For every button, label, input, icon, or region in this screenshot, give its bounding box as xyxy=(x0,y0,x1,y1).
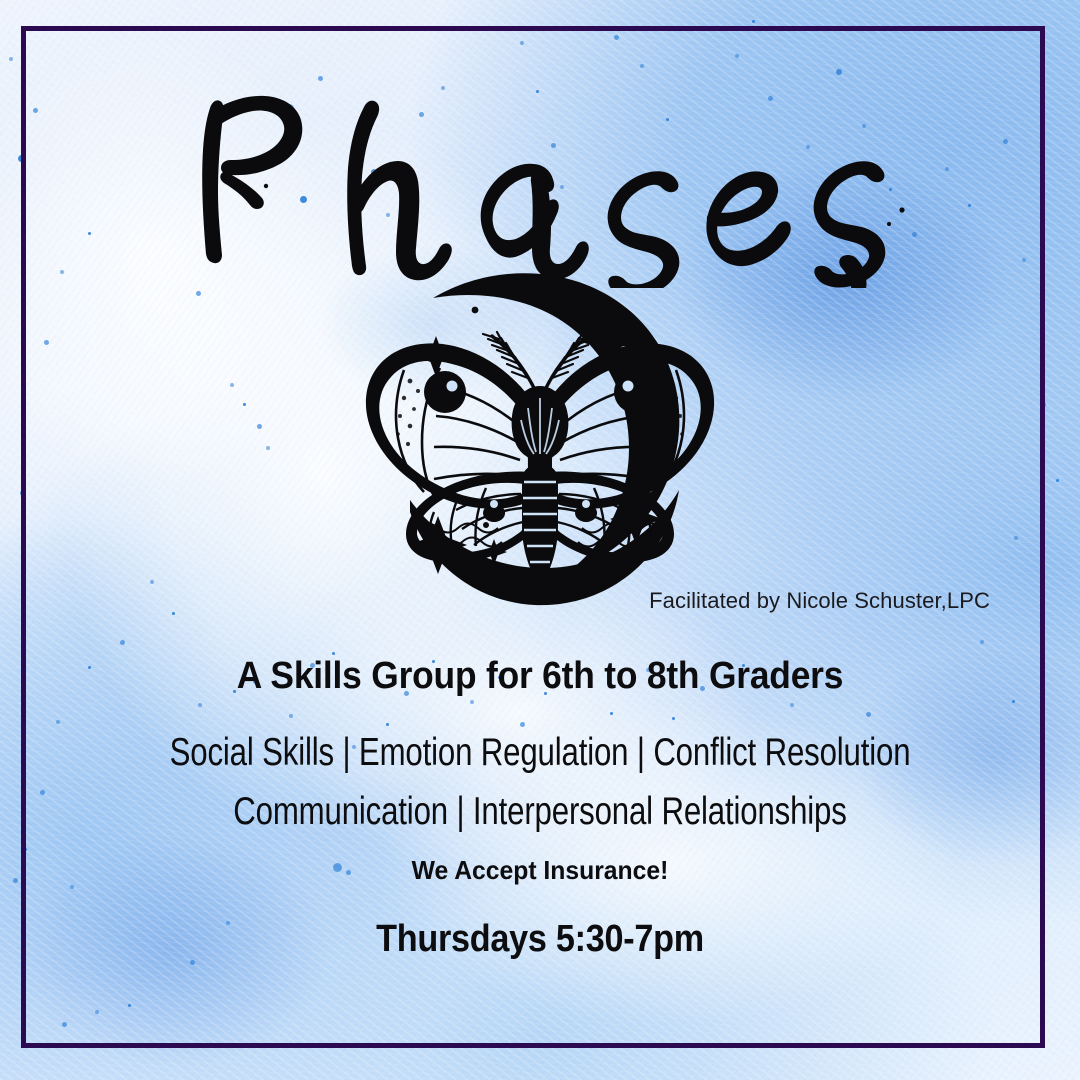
splatter-dot xyxy=(752,20,755,23)
splatter-dot xyxy=(150,580,154,584)
splatter-dot xyxy=(1041,402,1046,407)
splatter-dot xyxy=(20,490,26,496)
splatter-dot xyxy=(1056,479,1059,482)
splatter-dot xyxy=(13,878,18,883)
splatter-dot xyxy=(95,1010,99,1014)
splatter-dot xyxy=(672,717,675,720)
splatter-dot xyxy=(198,703,202,707)
splatter-dot xyxy=(230,383,234,387)
splatter-dot xyxy=(62,1022,67,1027)
splatter-dot xyxy=(56,720,60,724)
splatter-dot xyxy=(24,848,27,851)
insurance-note: We Accept Insurance! xyxy=(27,855,1053,886)
splatter-dot xyxy=(120,640,125,645)
splatter-dot xyxy=(40,790,45,795)
splatter-dot xyxy=(266,446,270,450)
splatter-dot xyxy=(257,424,262,429)
poster-title xyxy=(0,58,1080,288)
splatter-dot xyxy=(196,291,201,296)
poster-canvas: Facilitated by Nicole Schuster,LPC A Ski… xyxy=(0,0,1080,1080)
schedule-text: Thursdays 5:30-7pm xyxy=(54,918,1026,961)
splatter-dot xyxy=(520,41,524,45)
splatter-dot xyxy=(243,403,246,406)
splatter-dot xyxy=(866,712,871,717)
moth-moon-illustration xyxy=(318,258,762,628)
splatter-dot xyxy=(44,340,49,345)
splatter-dot xyxy=(980,640,984,644)
splatter-dot xyxy=(610,712,613,715)
splatter-dot xyxy=(614,35,619,40)
splatter-dot xyxy=(289,714,293,718)
splatter-dot xyxy=(1012,700,1015,703)
page-headline: A Skills Group for 6th to 8th Graders xyxy=(38,655,1042,698)
splatter-dot xyxy=(1014,536,1018,540)
splatter-dot xyxy=(790,703,794,707)
facilitator-credit: Facilitated by Nicole Schuster,LPC xyxy=(0,588,1080,614)
skills-line-1: Social Skills | Emotion Regulation | Con… xyxy=(108,731,972,775)
splatter-dot xyxy=(128,1004,131,1007)
splatter-dot xyxy=(520,722,525,727)
skills-line-2: Communication | Interpersonal Relationsh… xyxy=(108,790,972,834)
splatter-dot xyxy=(470,700,474,704)
splatter-dot xyxy=(386,723,389,726)
splatter-dot xyxy=(1040,764,1045,769)
